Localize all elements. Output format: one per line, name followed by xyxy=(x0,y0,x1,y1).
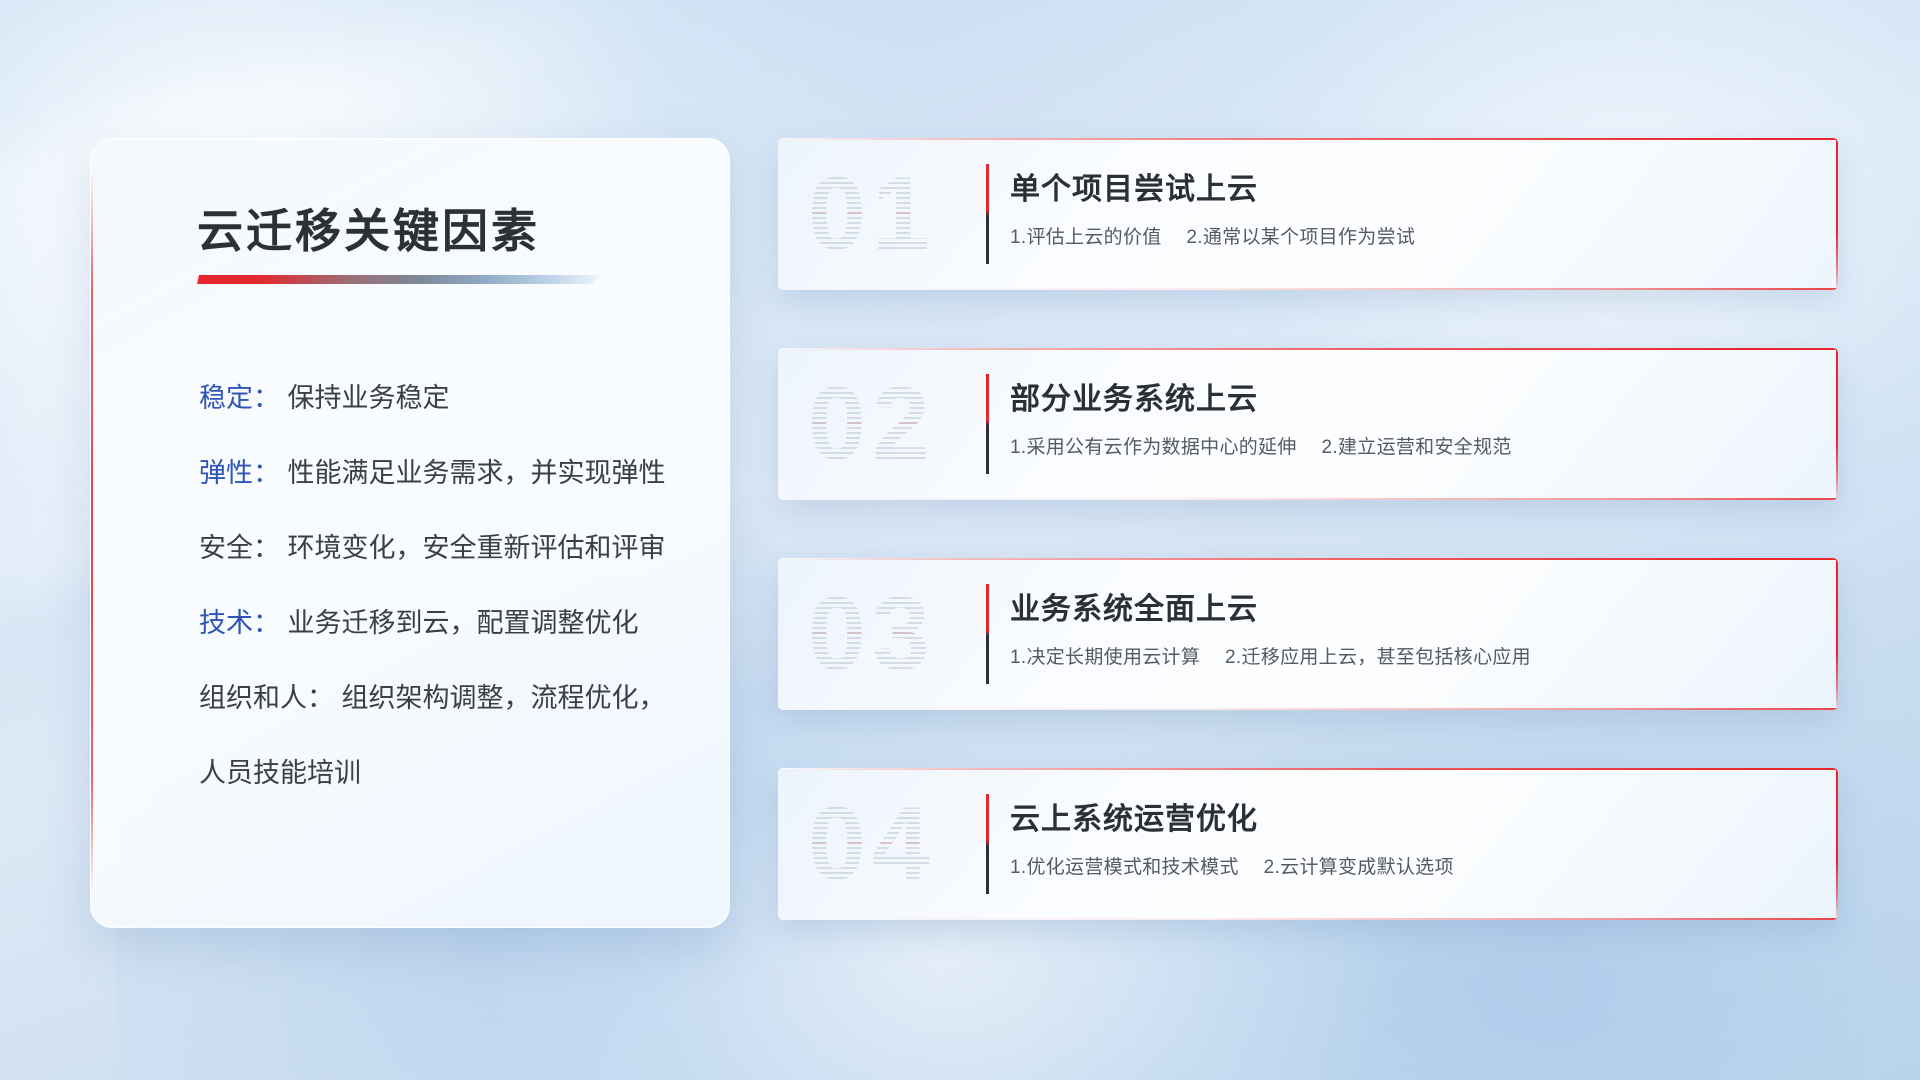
list-item-label: 弹性： xyxy=(199,458,280,488)
card-accent-top xyxy=(778,768,1838,770)
list-item-value: 保持业务稳定 xyxy=(288,383,450,413)
stage-title: 部分业务系统上云 xyxy=(1010,374,1258,418)
card-accent-right xyxy=(1836,138,1838,290)
list-item-value: 环境变化，安全重新评估和评审 xyxy=(288,533,666,563)
list-item-value: 组织架构调整，流程优化， xyxy=(342,683,666,713)
card-accent-right xyxy=(1836,348,1838,500)
title-underline-accent xyxy=(197,275,601,284)
stage-divider-bar xyxy=(986,584,989,684)
card-accent-bottom xyxy=(778,708,1838,710)
stage-card-02[interactable]: 02 02 部分业务系统上云 1.采用公有云作为数据中心的延伸 2.建立运营和安… xyxy=(778,348,1838,500)
list-item-label: 组织和人： xyxy=(199,683,334,713)
list-item: 安全： 环境变化，安全重新评估和评审 xyxy=(199,535,689,562)
card-accent-right xyxy=(1836,558,1838,710)
stage-description: 1.决定长期使用云计算 2.迁移应用上云，甚至包括核心应用 xyxy=(1010,642,1531,669)
page-title: 云迁移关键因素 xyxy=(197,195,540,261)
list-item: 组织和人： 组织架构调整，流程优化， xyxy=(199,685,689,712)
stage-description: 1.评估上云的价值 2.通常以某个项目作为尝试 xyxy=(1010,222,1415,249)
stage-description: 1.采用公有云作为数据中心的延伸 2.建立运营和安全规范 xyxy=(1010,432,1512,459)
list-item-value: 人员技能培训 xyxy=(199,758,361,788)
card-accent-top xyxy=(778,348,1838,350)
card-accent-bottom xyxy=(778,498,1838,500)
stage-divider-bar xyxy=(986,794,989,894)
list-item-continuation: 人员技能培训 xyxy=(199,760,689,787)
list-item-value: 性能满足业务需求，并实现弹性 xyxy=(288,458,666,488)
card-accent-bottom xyxy=(778,918,1838,920)
list-item: 弹性： 性能满足业务需求，并实现弹性 xyxy=(199,460,689,487)
list-item-label: 技术： xyxy=(199,608,280,638)
list-item: 稳定： 保持业务稳定 xyxy=(199,385,689,412)
list-item-value: 业务迁移到云，配置调整优化 xyxy=(288,608,639,638)
stage-card-list: 01 01 单个项目尝试上云 1.评估上云的价值 2.通常以某个项目作为尝试 0… xyxy=(778,138,1838,920)
list-item-label: 安全： xyxy=(199,533,280,563)
stage-card-01[interactable]: 01 01 单个项目尝试上云 1.评估上云的价值 2.通常以某个项目作为尝试 xyxy=(778,138,1838,290)
list-item-label: 稳定： xyxy=(199,383,280,413)
stage-card-04[interactable]: 04 04 云上系统运营优化 1.优化运营模式和技术模式 2.云计算变成默认选项 xyxy=(778,768,1838,920)
stage-description: 1.优化运营模式和技术模式 2.云计算变成默认选项 xyxy=(1010,852,1454,879)
key-factors-panel: 云迁移关键因素 稳定： 保持业务稳定 弹性： 性能满足业务需求，并实现弹性 安全… xyxy=(90,138,730,928)
card-accent-top xyxy=(778,138,1838,140)
list-item: 技术： 业务迁移到云，配置调整优化 xyxy=(199,610,689,637)
card-accent-right xyxy=(1836,768,1838,920)
stage-title: 业务系统全面上云 xyxy=(1010,584,1258,628)
card-accent-top xyxy=(778,558,1838,560)
key-factors-list: 稳定： 保持业务稳定 弹性： 性能满足业务需求，并实现弹性 安全： 环境变化，安… xyxy=(199,385,689,787)
stage-title: 单个项目尝试上云 xyxy=(1010,164,1258,208)
stage-divider-bar xyxy=(986,164,989,264)
stage-divider-bar xyxy=(986,374,989,474)
stage-title: 云上系统运营优化 xyxy=(1010,794,1258,838)
card-accent-bottom xyxy=(778,288,1838,290)
stage-card-03[interactable]: 03 03 业务系统全面上云 1.决定长期使用云计算 2.迁移应用上云，甚至包括… xyxy=(778,558,1838,710)
